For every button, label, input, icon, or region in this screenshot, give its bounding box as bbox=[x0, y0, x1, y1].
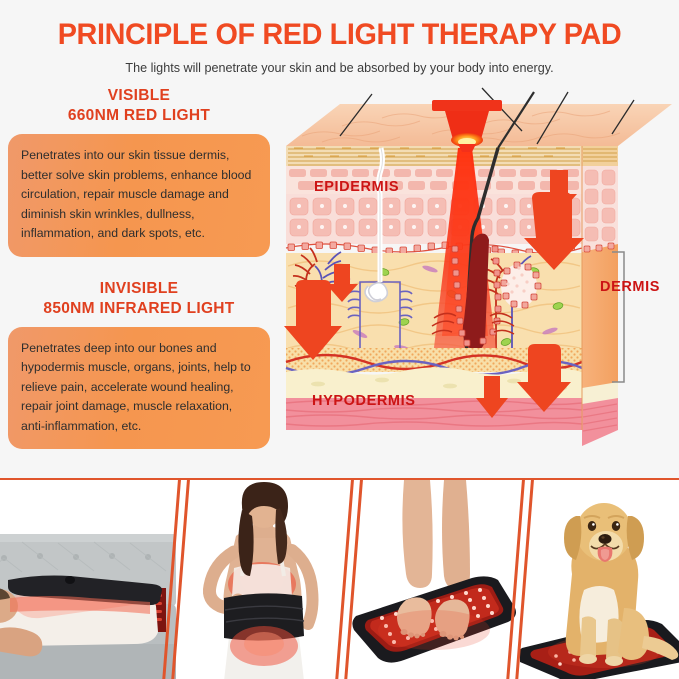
info-column: VISIBLE 660NM RED LIGHT Penetrates into … bbox=[8, 86, 270, 449]
photo-feet-on-mat bbox=[348, 480, 520, 679]
header: PRINCIPLE OF RED LIGHT THERAPY PAD The l… bbox=[0, 0, 679, 75]
main-content: VISIBLE 660NM RED LIGHT Penetrates into … bbox=[0, 86, 679, 478]
photo-dog-on-mat bbox=[520, 480, 679, 679]
heading-line-2: 660NM RED LIGHT bbox=[8, 106, 270, 126]
product-photo-strip bbox=[0, 478, 679, 679]
photo-woman-waist-belt bbox=[176, 480, 348, 679]
info-block-invisible: INVISIBLE 850NM INFRARED LIGHT Penetrate… bbox=[8, 279, 270, 450]
label-dermis: DERMIS bbox=[600, 279, 660, 295]
label-hypodermis: HYPODERMIS bbox=[312, 393, 416, 409]
block-heading-invisible: INVISIBLE 850NM INFRARED LIGHT bbox=[8, 279, 270, 319]
heading-line-1: VISIBLE bbox=[8, 86, 270, 106]
info-box-visible: Penetrates into our skin tissue dermis, … bbox=[8, 134, 270, 257]
label-epidermis: EPIDERMIS bbox=[314, 179, 399, 195]
info-box-invisible: Penetrates deep into our bones and hypod… bbox=[8, 327, 270, 450]
info-block-visible: VISIBLE 660NM RED LIGHT Penetrates into … bbox=[8, 86, 270, 257]
block-heading-visible: VISIBLE 660NM RED LIGHT bbox=[8, 86, 270, 126]
page-subtitle: The lights will penetrate your skin and … bbox=[0, 61, 679, 75]
heading-line-2: 850NM INFRARED LIGHT bbox=[8, 299, 270, 319]
skin-cross-section-diagram: EPIDERMIS DERMIS HYPODERMIS bbox=[282, 86, 672, 451]
heading-line-1: INVISIBLE bbox=[8, 279, 270, 299]
photo-man-on-sofa bbox=[0, 480, 176, 679]
page-title: PRINCIPLE OF RED LIGHT THERAPY PAD bbox=[14, 18, 666, 52]
